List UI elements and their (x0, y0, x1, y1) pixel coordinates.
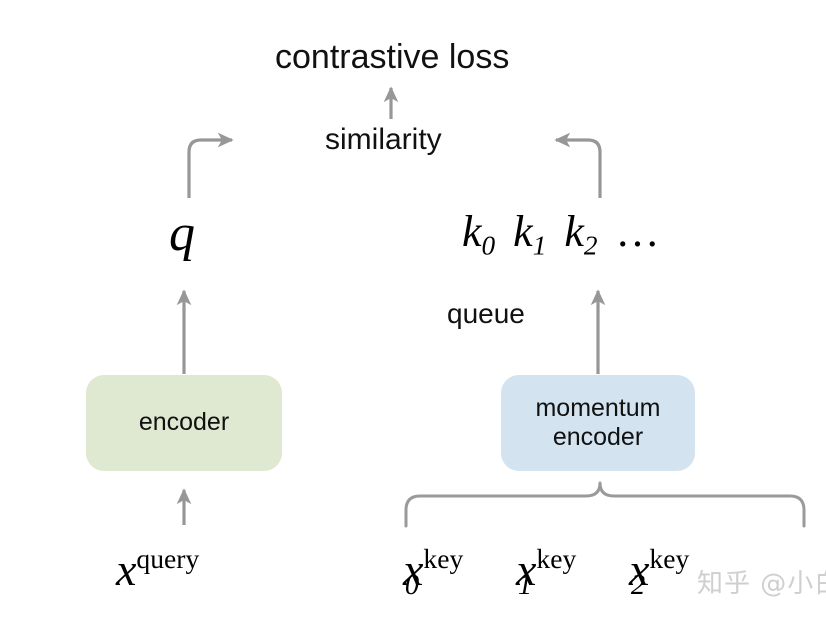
x-query-superscript: query (136, 543, 199, 574)
x-query-base: x (116, 544, 136, 595)
momentum-encoder-box[interactable]: momentum encoder (501, 375, 695, 471)
contrastive-loss-label: contrastive loss (275, 40, 509, 74)
x-key-1-subscript: 1 (518, 570, 532, 601)
q-symbol: q (169, 208, 195, 260)
key-inputs-brace (406, 483, 804, 526)
k2-symbol: k2 (564, 210, 597, 260)
k2-base: k (564, 207, 584, 256)
momentum-encoder-line-1: momentum (535, 394, 660, 422)
k2-subscript: 2 (584, 231, 598, 261)
keys-ellipsis: … (616, 210, 660, 254)
arrow-q-to-similarity (189, 140, 232, 198)
encoder-box-label: encoder (139, 408, 229, 438)
x-key-2-superscript: key (649, 543, 689, 574)
k0-symbol: k0 (462, 210, 495, 260)
x-key-2-symbol: xkey2 (629, 545, 645, 601)
k0-base: k (462, 207, 482, 256)
k1-base: k (513, 207, 533, 256)
queue-label: queue (447, 300, 525, 328)
k1-subscript: 1 (533, 231, 547, 261)
encoder-box[interactable]: encoder (86, 375, 282, 471)
x-key-1-symbol: xkey1 (516, 545, 532, 601)
k1-symbol: k1 (513, 210, 546, 260)
momentum-encoder-line-2: encoder (553, 423, 643, 451)
x-key-1-superscript: key (536, 543, 576, 574)
watermark: 知乎 @小白 (697, 563, 826, 600)
connectors-overlay (0, 0, 826, 634)
x-key-0-symbol: xkey0 (403, 545, 419, 601)
arrow-keys-to-similarity (556, 140, 600, 198)
x-key-2-subscript: 2 (631, 570, 645, 601)
x-key-0-superscript: key (423, 543, 463, 574)
x-query-symbol: xquery (116, 545, 199, 593)
similarity-label: similarity (325, 125, 442, 155)
k0-subscript: 0 (482, 231, 496, 261)
momentum-encoder-box-label: momentum encoder (535, 394, 660, 453)
diagram-canvas: encoder momentum encoder contrastive los… (0, 0, 826, 634)
key-symbols-row: k0k1k2… (462, 210, 660, 260)
x-key-0-subscript: 0 (405, 570, 419, 601)
